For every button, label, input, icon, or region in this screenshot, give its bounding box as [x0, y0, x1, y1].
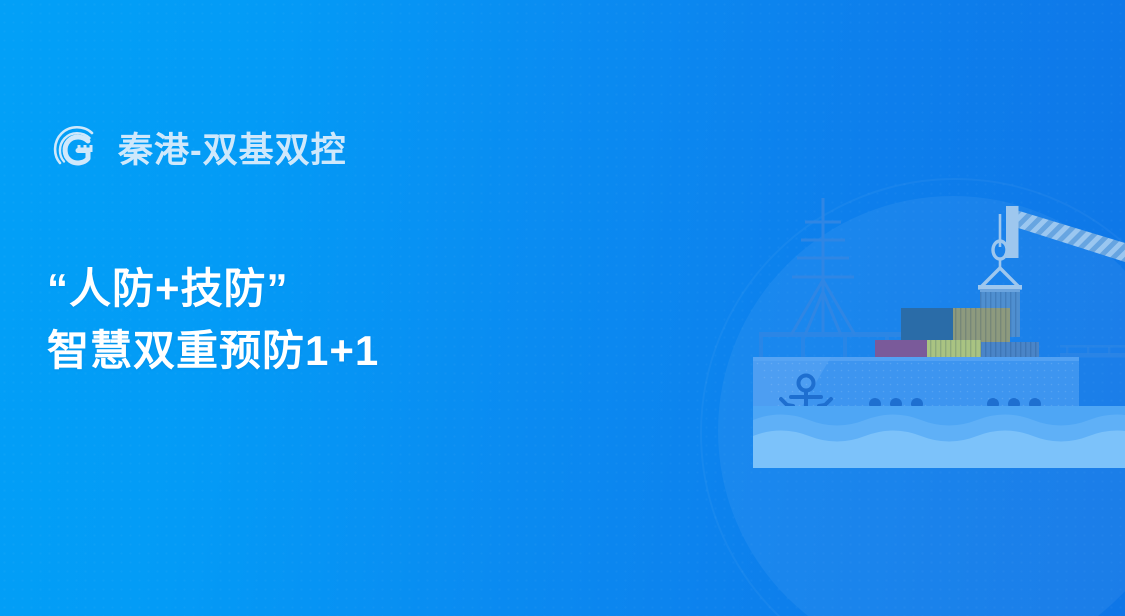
sea-waves — [753, 406, 1125, 470]
container-ship-port-illustration — [735, 180, 1125, 480]
page-title: “人防+技防” 智慧双重预防1+1 — [47, 258, 379, 382]
dock-railing — [1060, 345, 1125, 358]
headline-line-2: 智慧双重预防1+1 — [47, 320, 379, 382]
banner-stage: 秦港-双基双控 “人防+技防” 智慧双重预防1+1 — [0, 0, 1125, 616]
brand-lockup: 秦港-双基双控 — [48, 118, 347, 182]
brand-name: 秦港-双基双控 — [118, 133, 347, 168]
headline-line-1: “人防+技防” — [47, 258, 379, 320]
port-crane — [978, 206, 1125, 290]
qingang-wave-g-logo-icon — [48, 122, 104, 178]
ship-scene-svg — [735, 180, 1125, 480]
ship-mast — [791, 198, 855, 335]
